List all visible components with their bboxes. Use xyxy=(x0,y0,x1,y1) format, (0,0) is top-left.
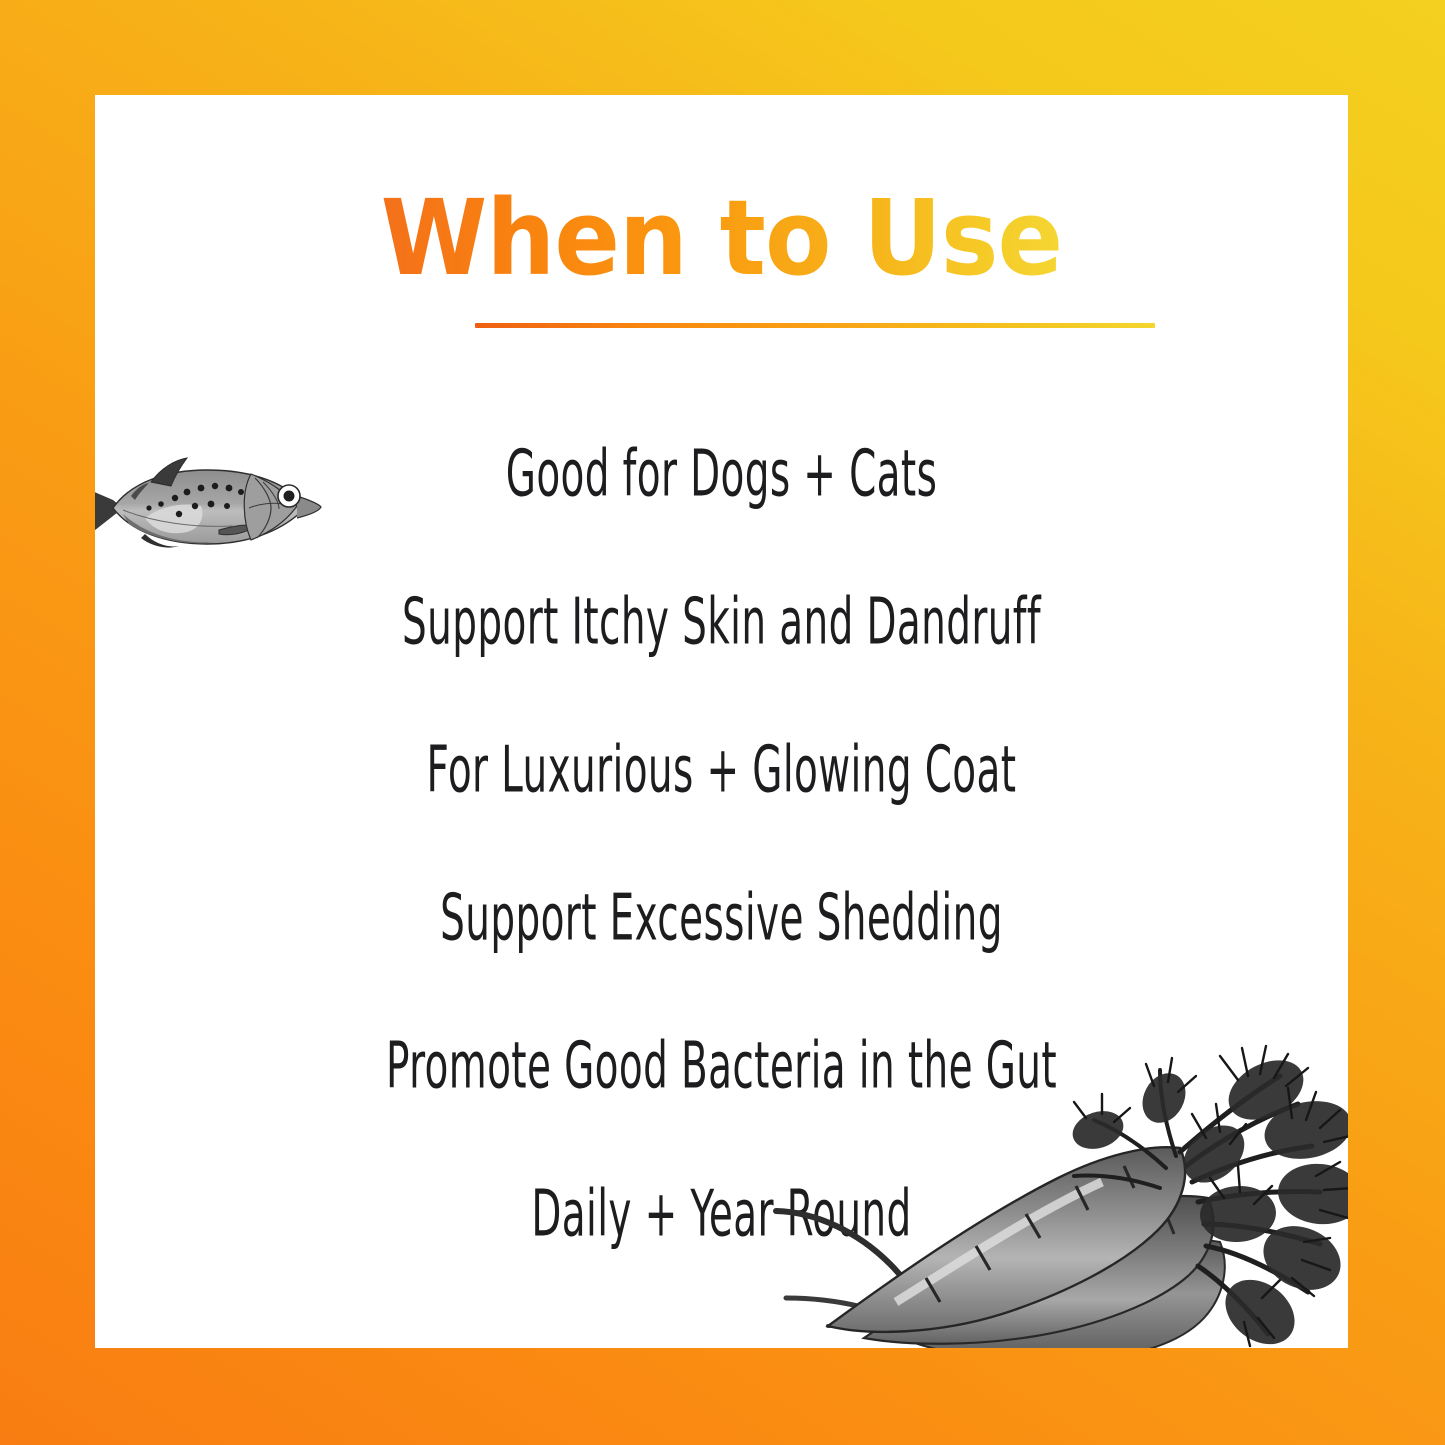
list-item: Support Itchy Skin and Dandruff xyxy=(245,539,1197,705)
content-panel: When to Use Good for Dogs + Cats Support… xyxy=(95,95,1348,1348)
page-title: When to Use xyxy=(381,185,1063,291)
list-item: For Luxurious + Glowing Coat xyxy=(245,687,1197,853)
title-underline-rule xyxy=(475,323,1155,328)
list-item: Support Excessive Shedding xyxy=(245,835,1197,1001)
carrots-icon xyxy=(768,1026,1348,1348)
page-title-container: When to Use xyxy=(95,185,1348,291)
list-item: Good for Dogs + Cats xyxy=(245,391,1197,557)
fish-icon xyxy=(95,452,323,560)
infographic-canvas: When to Use Good for Dogs + Cats Support… xyxy=(0,0,1445,1445)
